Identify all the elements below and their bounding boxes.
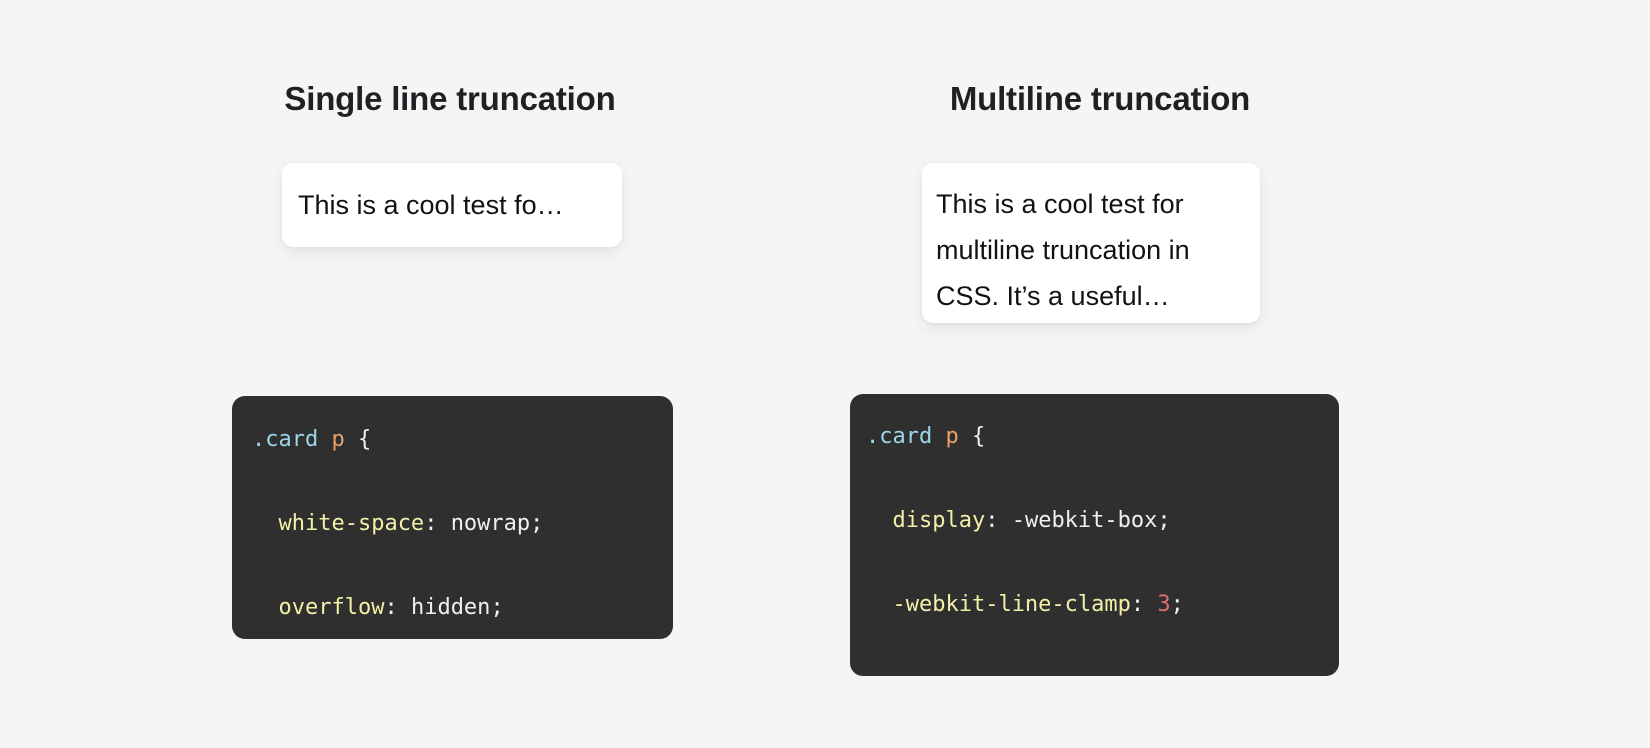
code-token-punct: ;	[1157, 508, 1170, 533]
code-line: -webkit-line-clamp: 3;	[866, 584, 1339, 626]
code-token-plain	[318, 427, 331, 452]
code-token-punct: :	[424, 511, 451, 536]
code-token-punct: ;	[490, 595, 503, 620]
code-token-number: 3	[1157, 592, 1170, 617]
code-token-value: -webkit-box	[1012, 508, 1158, 533]
code-line: .card p {	[866, 416, 1339, 458]
code-token-element: p	[945, 424, 958, 449]
code-token-selector: .card	[252, 427, 318, 452]
code-token-punct: :	[384, 595, 411, 620]
code-line: -webkit-box-orient: vertical;	[866, 668, 1339, 676]
code-token-punct: ;	[1171, 592, 1184, 617]
code-token-plain	[932, 424, 945, 449]
page-root: Single line truncation This is a cool te…	[0, 0, 1650, 748]
code-token-prop: overflow	[278, 595, 384, 620]
code-token-prop: white-space	[278, 511, 424, 536]
demo-card-single-line: This is a cool test fo…	[282, 163, 622, 247]
code-line: white-space: nowrap;	[252, 503, 673, 545]
code-indent	[252, 503, 278, 545]
code-indent	[866, 584, 892, 626]
code-token-punct: ;	[530, 511, 543, 536]
code-snippet-multiline: .card p { display: -webkit-box; -webkit-…	[850, 394, 1339, 676]
code-token-value: hidden	[411, 595, 490, 620]
code-token-selector: .card	[866, 424, 932, 449]
page-title-multiline: Multiline truncation	[800, 78, 1400, 120]
demo-card-multiline: This is a cool test for multiline trunca…	[922, 163, 1260, 323]
code-token-punct: {	[959, 424, 986, 449]
code-line: .card p {	[252, 419, 673, 461]
code-indent	[252, 587, 278, 629]
code-indent	[866, 668, 892, 676]
code-token-value: nowrap	[451, 511, 530, 536]
demo-card-multiline-text: This is a cool test for multiline trunca…	[936, 181, 1240, 319]
code-line: display: -webkit-box;	[866, 500, 1339, 542]
code-token-element: p	[331, 427, 344, 452]
code-line: overflow: hidden;	[252, 587, 673, 629]
demo-card-single-line-text: This is a cool test fo…	[298, 187, 607, 223]
code-indent	[866, 500, 892, 542]
code-token-prop: display	[892, 508, 985, 533]
code-token-prop: -webkit-line-clamp	[892, 592, 1130, 617]
code-token-punct: :	[1131, 592, 1158, 617]
code-token-punct: :	[985, 508, 1012, 533]
code-snippet-single-line: .card p { white-space: nowrap; overflow:…	[232, 396, 673, 639]
code-token-punct: {	[345, 427, 372, 452]
page-title-single-line: Single line truncation	[150, 78, 750, 120]
